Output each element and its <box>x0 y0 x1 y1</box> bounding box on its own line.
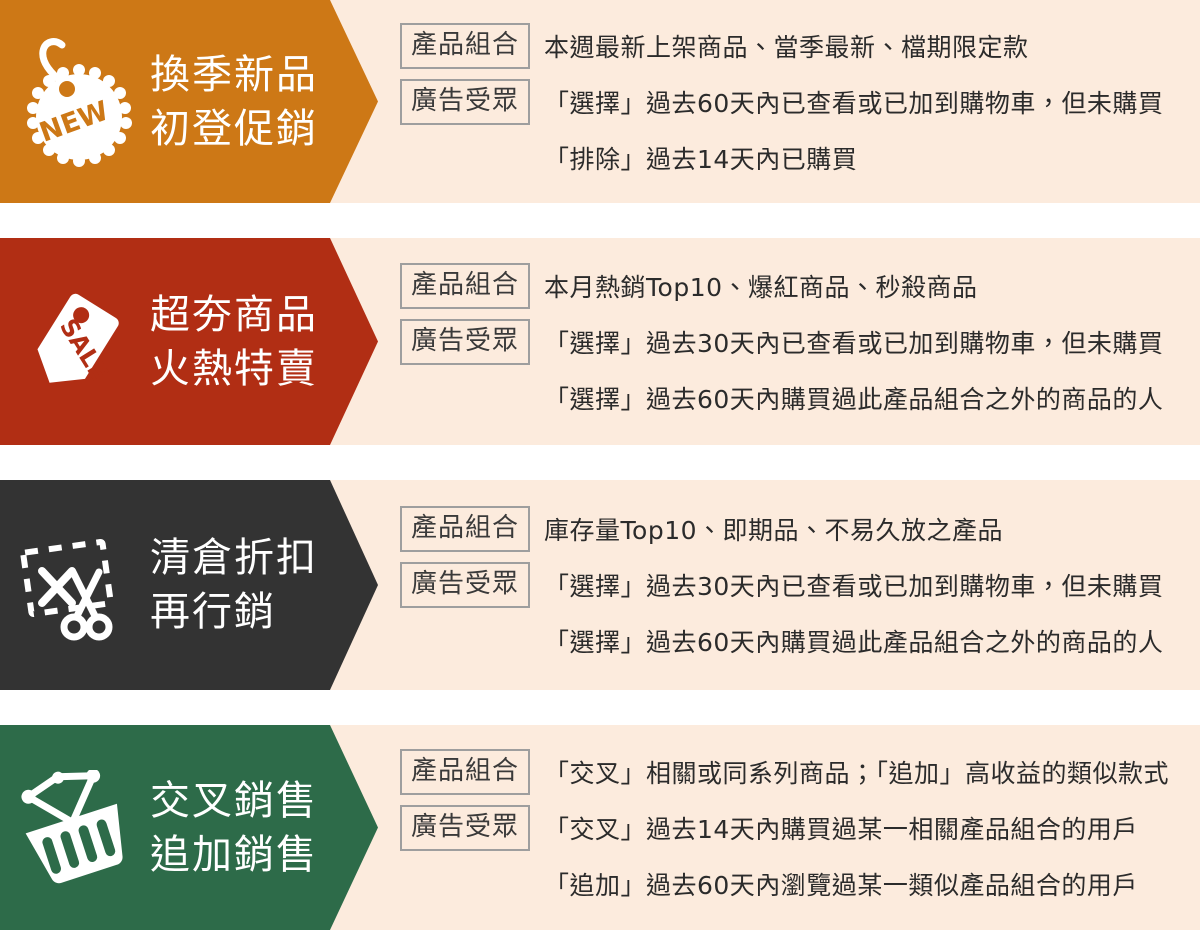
audience-value-2: 「選擇」過去60天內購買過此產品組合之外的商品的人 <box>544 377 1200 423</box>
audience-value-1: 「選擇」過去30天內已查看或已加到購物車，但未購買 <box>544 562 1163 610</box>
audience-line: 廣告受眾 「選擇」過去30天內已查看或已加到購物車，但未購買 <box>400 319 1200 367</box>
campaign-title-line-1: 超夯商品 <box>150 288 318 342</box>
product-set-value: 「交叉」相關或同系列商品；「追加」高收益的類似款式 <box>544 749 1169 797</box>
marketing-campaign-infographic: NEW 換季新品 初登促銷 產品組合 本週最新上架商品、當季最新、檔期限定款 廣… <box>0 0 1200 930</box>
campaign-badge-hot-sale: SALE 超夯商品 火熱特賣 <box>0 238 378 445</box>
campaign-details: 產品組合 「交叉」相關或同系列商品；「追加」高收益的類似款式 廣告受眾 「交叉」… <box>400 725 1200 930</box>
campaign-title: 超夯商品 火熱特賣 <box>150 288 318 396</box>
campaign-row-new-arrival: NEW 換季新品 初登促銷 產品組合 本週最新上架商品、當季最新、檔期限定款 廣… <box>0 0 1200 203</box>
product-set-line: 產品組合 本月熱銷Top10、爆紅商品、秒殺商品 <box>400 263 1200 311</box>
campaign-details: 產品組合 本週最新上架商品、當季最新、檔期限定款 廣告受眾 「選擇」過去60天內… <box>400 0 1200 203</box>
audience-line: 廣告受眾 「選擇」過去60天內已查看或已加到購物車，但未購買 <box>400 79 1200 127</box>
sale-tag-icon: SALE <box>0 238 150 445</box>
campaign-details: 產品組合 庫存量Top10、即期品、不易久放之產品 廣告受眾 「選擇」過去30天… <box>400 480 1200 690</box>
audience-value-2: 「選擇」過去60天內購買過此產品組合之外的商品的人 <box>544 620 1200 666</box>
campaign-title-line-1: 清倉折扣 <box>150 531 318 585</box>
campaign-title: 換季新品 初登促銷 <box>150 48 318 156</box>
campaign-title-line-2: 初登促銷 <box>150 102 318 156</box>
audience-line: 廣告受眾 「交叉」過去14天內購買過某一相關產品組合的用戶 <box>400 805 1200 853</box>
coupon-scissors-icon <box>0 480 150 690</box>
audience-label: 廣告受眾 <box>400 79 530 125</box>
campaign-title: 清倉折扣 再行銷 <box>150 531 318 639</box>
product-set-label: 產品組合 <box>400 749 530 795</box>
campaign-badge-new-arrival: NEW 換季新品 初登促銷 <box>0 0 378 203</box>
audience-label: 廣告受眾 <box>400 805 530 851</box>
product-set-value: 本月熱銷Top10、爆紅商品、秒殺商品 <box>544 263 978 311</box>
product-set-value: 庫存量Top10、即期品、不易久放之產品 <box>544 506 1003 554</box>
campaign-title-line-2: 火熱特賣 <box>150 342 318 396</box>
campaign-title-line-2: 再行銷 <box>150 585 318 639</box>
product-set-line: 產品組合 「交叉」相關或同系列商品；「追加」高收益的類似款式 <box>400 749 1200 797</box>
campaign-title-line-1: 換季新品 <box>150 48 318 102</box>
audience-label: 廣告受眾 <box>400 562 530 608</box>
shopping-basket-icon <box>0 725 150 930</box>
product-set-line: 產品組合 庫存量Top10、即期品、不易久放之產品 <box>400 506 1200 554</box>
product-set-label: 產品組合 <box>400 23 530 69</box>
product-set-line: 產品組合 本週最新上架商品、當季最新、檔期限定款 <box>400 23 1200 71</box>
new-tag-icon: NEW <box>0 0 150 203</box>
campaign-row-clearance: 清倉折扣 再行銷 產品組合 庫存量Top10、即期品、不易久放之產品 廣告受眾 … <box>0 480 1200 690</box>
campaign-row-hot-sale: SALE 超夯商品 火熱特賣 產品組合 本月熱銷Top10、爆紅商品、秒殺商品 … <box>0 238 1200 445</box>
campaign-title-line-1: 交叉銷售 <box>150 774 318 828</box>
product-set-label: 產品組合 <box>400 263 530 309</box>
audience-line: 廣告受眾 「選擇」過去30天內已查看或已加到購物車，但未購買 <box>400 562 1200 610</box>
campaign-row-cross-sell: 交叉銷售 追加銷售 產品組合 「交叉」相關或同系列商品；「追加」高收益的類似款式… <box>0 725 1200 930</box>
campaign-badge-clearance: 清倉折扣 再行銷 <box>0 480 378 690</box>
campaign-title: 交叉銷售 追加銷售 <box>150 774 318 882</box>
campaign-details: 產品組合 本月熱銷Top10、爆紅商品、秒殺商品 廣告受眾 「選擇」過去30天內… <box>400 238 1200 445</box>
audience-value-1: 「交叉」過去14天內購買過某一相關產品組合的用戶 <box>544 805 1138 853</box>
product-set-label: 產品組合 <box>400 506 530 552</box>
audience-value-2: 「排除」過去14天內已購買 <box>544 137 1200 183</box>
campaign-title-line-2: 追加銷售 <box>150 828 318 882</box>
product-set-value: 本週最新上架商品、當季最新、檔期限定款 <box>544 23 1029 71</box>
audience-value-1: 「選擇」過去30天內已查看或已加到購物車，但未購買 <box>544 319 1163 367</box>
campaign-badge-cross-sell: 交叉銷售 追加銷售 <box>0 725 378 930</box>
audience-value-2: 「追加」過去60天內瀏覽過某一類似產品組合的用戶 <box>544 863 1200 909</box>
audience-label: 廣告受眾 <box>400 319 530 365</box>
audience-value-1: 「選擇」過去60天內已查看或已加到購物車，但未購買 <box>544 79 1163 127</box>
